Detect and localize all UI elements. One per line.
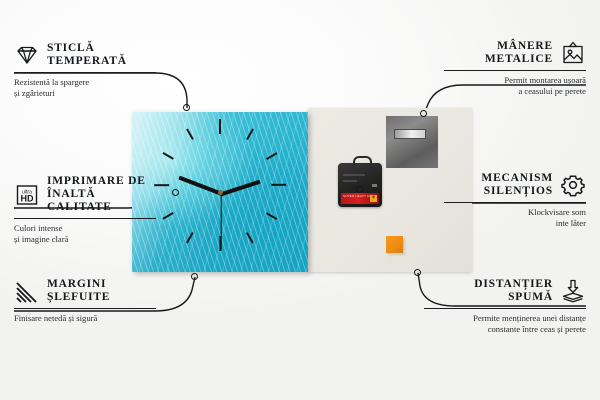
callout-title: MECANISM SILENȚIOS	[481, 172, 553, 198]
product-feature-infographic: SUPER HEAVY DUTY +	[0, 0, 600, 400]
hanger-slot	[394, 129, 426, 139]
callout-imprimare-inalta-calitate: ultra HD IMPRIMARE DE ÎNALTĂ CALITATE Cu…	[14, 175, 156, 245]
callout-divider	[14, 218, 156, 219]
callout-subtitle: Permite menținerea unei distanțe constan…	[424, 313, 586, 335]
callout-dot-manere	[420, 110, 427, 117]
battery: SUPER HEAVY DUTY +	[341, 193, 379, 204]
hour-tick	[271, 183, 286, 185]
callout-title: DISTANȚIER SPUMĂ	[474, 278, 553, 304]
callout-divider	[444, 202, 586, 203]
callout-divider	[424, 308, 586, 309]
product-image: SUPER HEAVY DUTY +	[132, 108, 472, 276]
callout-dot-mecanism	[356, 186, 363, 193]
center-cap	[218, 190, 223, 195]
mechanism-detail	[343, 174, 365, 176]
callout-title: MÂNERE METALICE	[485, 40, 553, 66]
diagonal-lines-icon	[14, 279, 40, 303]
callout-manere-metalice: MÂNERE METALICE Permit montarea ușoară a…	[444, 40, 586, 97]
callout-divider	[14, 72, 156, 73]
callout-subtitle: Rezistentă la spargere și zgârieturi	[14, 77, 156, 99]
callout-header: ultra HD IMPRIMARE DE ÎNALTĂ CALITATE	[14, 175, 156, 214]
hour-tick	[154, 183, 169, 185]
second-hand	[220, 192, 221, 250]
callout-mecanism-silentios: MECANISM SILENȚIOS Klockvisare som inte …	[444, 172, 586, 229]
ultra-hd-icon: ultra HD	[14, 183, 40, 207]
arrow-onto-layers-icon	[560, 279, 586, 303]
hour-tick	[219, 119, 221, 134]
callout-distantier-spuma: DISTANȚIER SPUMĂ Permite menținerea unei…	[424, 278, 586, 335]
picture-frame-hanger-icon	[560, 41, 586, 65]
mechanism-detail	[343, 180, 357, 182]
callout-header: MÂNERE METALICE	[444, 40, 586, 66]
callout-margini-slefuite: MARGINI ȘLEFUITE Finisare netedă și sigu…	[14, 278, 156, 324]
mechanism-detail	[372, 184, 377, 187]
callout-subtitle: Culori intense și imagine clară	[14, 223, 156, 245]
callout-dot-distantier	[414, 269, 421, 276]
clock-face	[132, 112, 308, 272]
callout-divider	[14, 308, 156, 309]
callout-title: MARGINI ȘLEFUITE	[47, 278, 110, 304]
gear-icon	[560, 173, 586, 197]
callout-title: STICLĂ TEMPERATĂ	[47, 42, 127, 68]
mechanism-hook	[353, 156, 372, 167]
callout-header: STICLĂ TEMPERATĂ	[14, 42, 156, 68]
callout-header: MECANISM SILENȚIOS	[444, 172, 586, 198]
svg-text:HD: HD	[21, 193, 34, 203]
callout-header: DISTANȚIER SPUMĂ	[424, 278, 586, 304]
clock-mechanism: SUPER HEAVY DUTY +	[338, 163, 382, 207]
callout-subtitle: Finisare netedă și sigură	[14, 313, 156, 324]
callout-dot-margini	[191, 273, 198, 280]
callout-subtitle: Permit montarea ușoară a ceasului pe per…	[444, 75, 586, 97]
diamond-icon	[14, 43, 40, 67]
metal-hanger-plate	[386, 116, 438, 168]
callout-divider	[444, 70, 586, 71]
callout-sticla-temperata: STICLĂ TEMPERATĂ Rezistentă la spargere …	[14, 42, 156, 99]
callout-subtitle: Klockvisare som inte låter	[444, 207, 586, 229]
callout-dot-sticla-temperata	[183, 104, 190, 111]
foam-spacer	[386, 236, 403, 253]
callout-title: IMPRIMARE DE ÎNALTĂ CALITATE	[47, 175, 156, 214]
battery-plus-terminal: +	[370, 195, 377, 202]
callout-header: MARGINI ȘLEFUITE	[14, 278, 156, 304]
callout-dot-imprimare	[172, 189, 179, 196]
